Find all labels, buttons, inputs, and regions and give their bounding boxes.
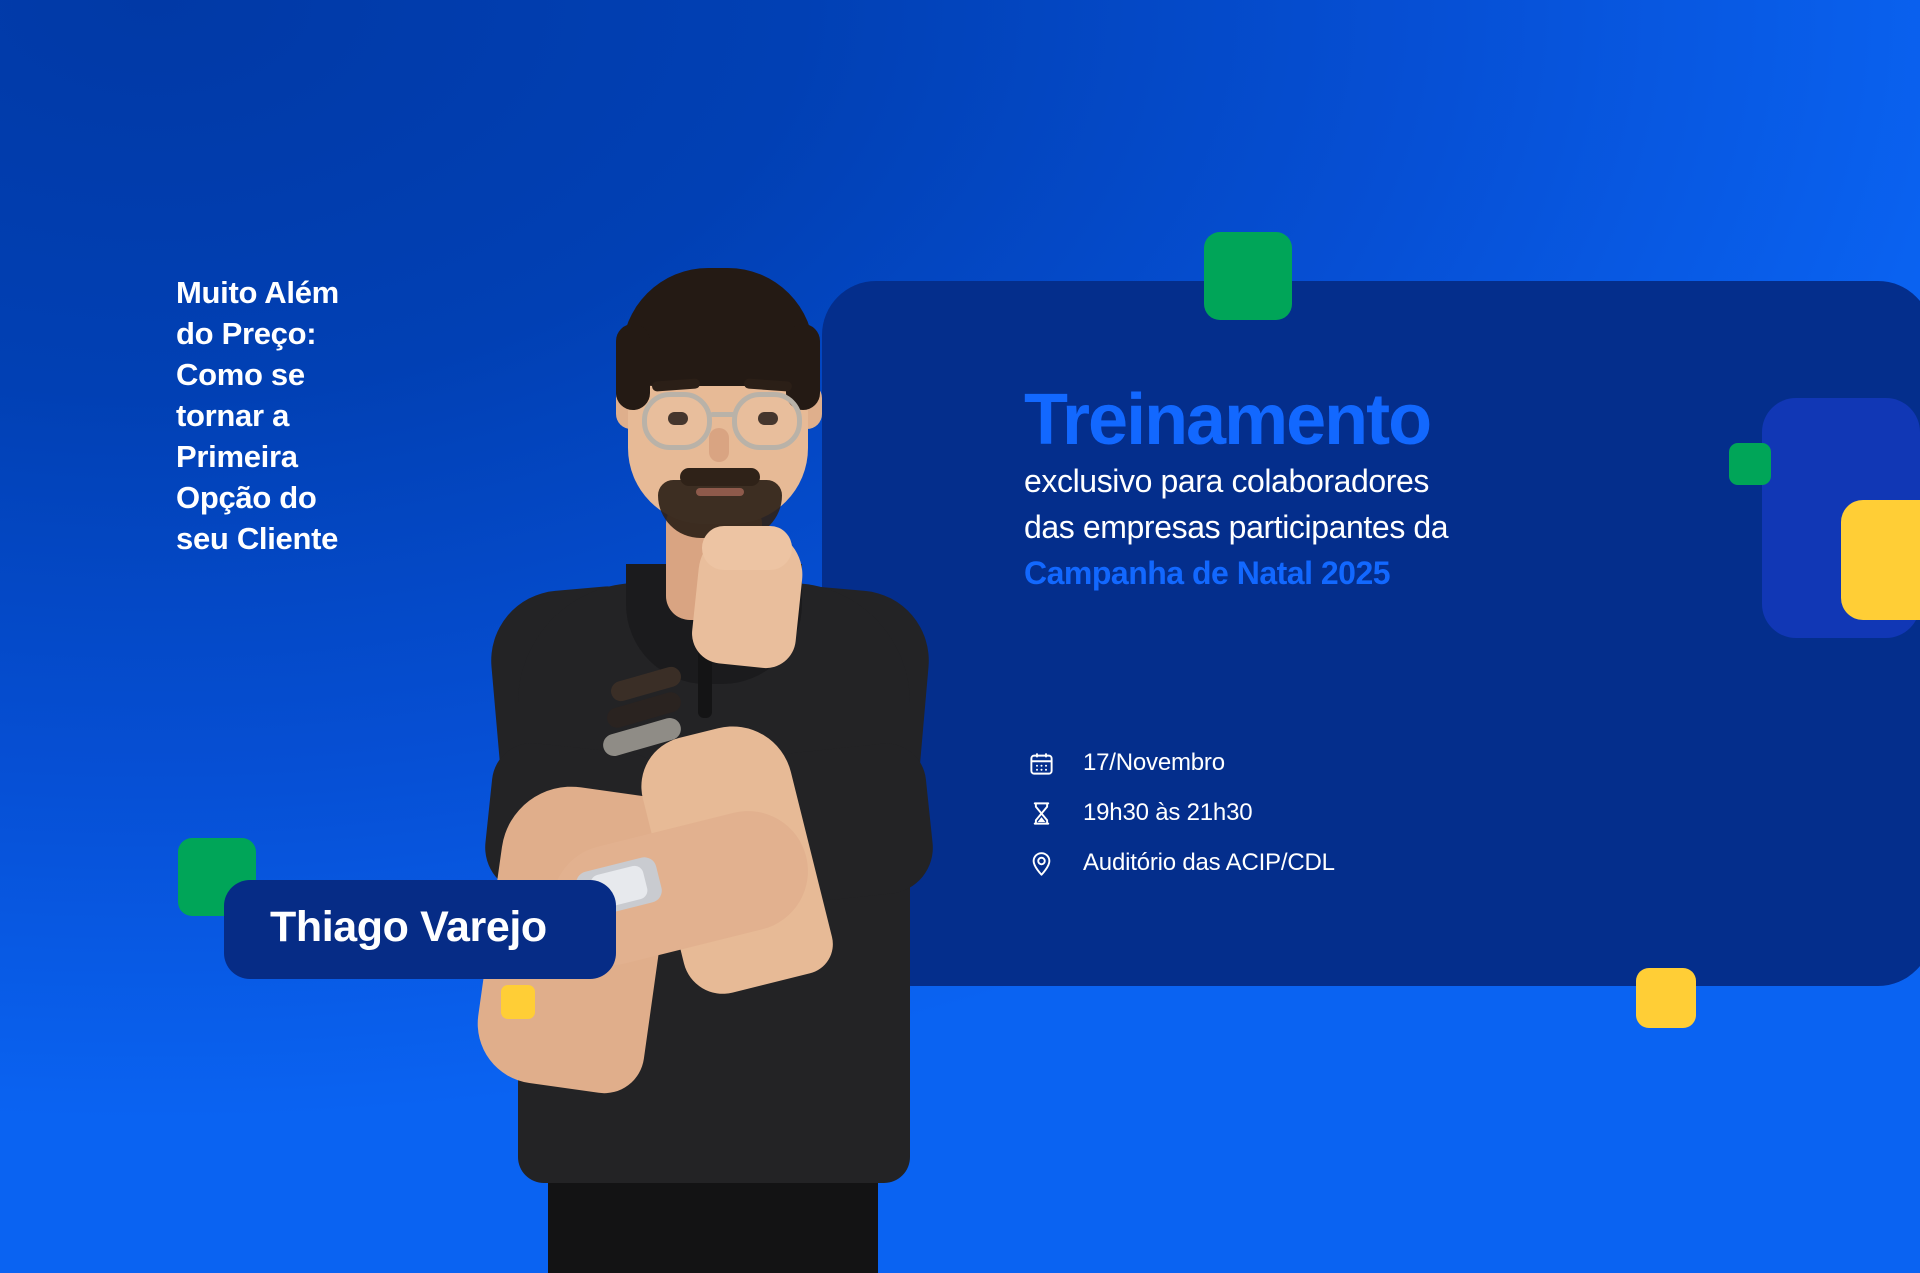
hourglass-icon	[1026, 798, 1056, 828]
location-pin-icon	[1026, 848, 1056, 878]
speaker-name-badge: Thiago Varejo	[224, 880, 616, 979]
event-header: Treinamento exclusivo para colaboradores…	[1024, 382, 1704, 596]
headline: Muito Além do Preço: Como se tornar a Pr…	[176, 272, 426, 559]
calendar-icon	[1026, 748, 1056, 778]
headline-line: do Preço:	[176, 313, 426, 354]
event-details-list: 17/Novembro 19h30 às 21h30	[1026, 738, 1335, 888]
headline-line: Muito Além	[176, 272, 426, 313]
detail-row-time: 19h30 às 21h30	[1026, 788, 1335, 838]
detail-label-time: 19h30 às 21h30	[1083, 798, 1252, 828]
headline-line: Primeira	[176, 436, 426, 477]
detail-row-location: Auditório das ACIP/CDL	[1026, 838, 1335, 888]
headline-line: Como se	[176, 354, 426, 395]
decor-square-yellow-panel	[1636, 968, 1696, 1028]
event-subtitle-line-2: das empresas participantes da	[1024, 504, 1704, 550]
decor-square-green-top	[1204, 232, 1292, 320]
event-campaign: Campanha de Natal 2025	[1024, 550, 1704, 596]
headline-line: tornar a	[176, 395, 426, 436]
headline-line: Opção do	[176, 477, 426, 518]
detail-label-date: 17/Novembro	[1083, 748, 1225, 778]
presenter-photo	[430, 128, 990, 1273]
decor-square-yellow-badge	[501, 985, 535, 1019]
event-title: Treinamento	[1024, 382, 1704, 458]
detail-label-location: Auditório das ACIP/CDL	[1083, 848, 1335, 878]
decor-square-green-right	[1729, 443, 1771, 485]
headline-line: seu Cliente	[176, 518, 426, 559]
decor-square-yellow-right	[1841, 500, 1920, 620]
event-subtitle-line-1: exclusivo para colaboradores	[1024, 458, 1704, 504]
detail-row-date: 17/Novembro	[1026, 738, 1335, 788]
speaker-name: Thiago Varejo	[270, 903, 547, 951]
promo-banner: Muito Além do Preço: Como se tornar a Pr…	[0, 0, 1920, 1273]
